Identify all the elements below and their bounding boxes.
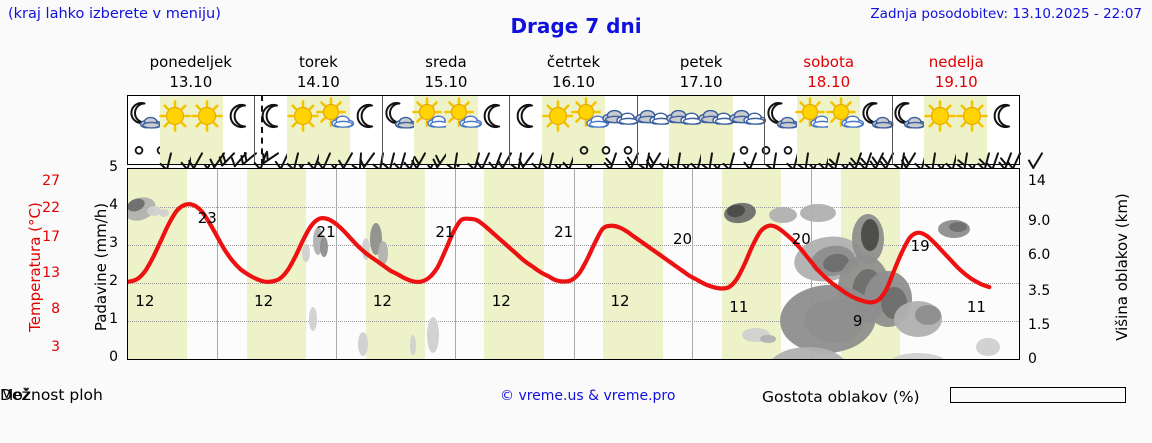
temperature-value-label: 19	[911, 237, 930, 255]
day-headers: ponedeljek13.10torek14.10sreda15.10četrt…	[127, 52, 1020, 94]
cloud-height-tick-1: 9.0	[1028, 213, 1068, 229]
chart-legend: Dež Možnost ploh © vreme.us & vreme.pro …	[0, 386, 1152, 426]
wind-barb-group	[287, 134, 319, 164]
wind-barb-icon	[893, 136, 915, 164]
temperature-tick-1: 22	[36, 200, 60, 216]
day-header-5: sobota18.10	[765, 52, 893, 94]
temperature-value-label: 20	[673, 230, 692, 248]
wind-barb-group	[605, 134, 637, 164]
day-header-6: nedelja19.10	[892, 52, 1020, 94]
wind-barb-group	[160, 134, 192, 164]
wind-barb-group	[350, 134, 382, 164]
x-axis-labels	[127, 361, 1020, 383]
cloud-density-ticks	[950, 405, 1140, 423]
day-date: 19.10	[892, 72, 1020, 92]
icon-day-column-3	[509, 96, 636, 164]
wind-barb-icon	[510, 136, 532, 164]
wind-barb-icon	[605, 136, 627, 164]
day-name: torek	[255, 52, 383, 72]
icon-day-column-6	[892, 96, 1019, 164]
cloud-height-tick-4: 1.5	[1028, 317, 1068, 333]
wind-barb-group	[987, 134, 1019, 164]
day-date: 18.10	[765, 72, 893, 92]
day-name: sobota	[765, 52, 893, 72]
precipitation-tick-3: 2	[100, 273, 118, 289]
wind-barb-icon	[446, 136, 468, 164]
temperature-value-label: 12	[373, 292, 392, 310]
wind-barb-group	[924, 134, 956, 164]
precipitation-tick-4: 1	[100, 311, 118, 327]
cloud-height-axis-title: Višina oblakov (km)	[1113, 182, 1131, 352]
precipitation-tick-0: 5	[100, 159, 118, 175]
showers-legend-label: Možnost ploh	[0, 386, 103, 404]
wind-barb-group	[797, 134, 829, 164]
day-header-2: sreda15.10	[382, 52, 510, 94]
icon-day-column-0	[128, 96, 254, 164]
copyright-link[interactable]: © vreme.us & vreme.pro	[500, 388, 675, 404]
wind-barb-group	[701, 134, 733, 164]
wind-barb-icon	[1031, 136, 1053, 164]
wind-barb-group	[573, 134, 605, 164]
day-header-0: ponedeljek13.10	[127, 52, 255, 94]
day-name: petek	[637, 52, 765, 72]
temperature-tick-3: 13	[36, 265, 60, 281]
day-name: ponedeljek	[127, 52, 255, 72]
wind-barb-group	[383, 134, 415, 164]
temperature-value-label: 9	[853, 312, 863, 330]
temperature-value-label: 11	[967, 298, 986, 316]
temperature-value-label: 23	[198, 209, 217, 227]
temperature-value-label: 12	[135, 292, 154, 310]
icon-day-column-1	[254, 96, 381, 164]
wind-barb-group	[733, 134, 765, 164]
wind-barb-group	[828, 134, 860, 164]
day-date: 14.10	[255, 72, 383, 92]
wind-barb-icon	[987, 136, 1009, 164]
day-name: četrtek	[510, 52, 638, 72]
wind-barb-icon	[287, 136, 309, 164]
temperature-value-label: 12	[611, 292, 630, 310]
wind-barb-group	[765, 134, 797, 164]
wind-barb-icon	[319, 136, 341, 164]
wind-barb-icon	[383, 136, 405, 164]
wind-barb-group	[446, 134, 478, 164]
wind-barb-icon	[128, 136, 150, 164]
wind-barb-icon	[733, 136, 755, 164]
day-name: nedelja	[892, 52, 1020, 72]
icon-day-column-5	[764, 96, 891, 164]
temperature-tick-2: 17	[36, 229, 60, 245]
wind-barb-group	[319, 134, 351, 164]
temperature-curve	[128, 169, 1019, 359]
wind-barb-icon	[255, 136, 277, 164]
wind-barb-group	[191, 134, 223, 164]
temperature-value-label: 12	[492, 292, 511, 310]
wind-barb-icon	[542, 136, 564, 164]
wind-barb-icon	[924, 136, 946, 164]
temperature-value-label: 21	[554, 223, 573, 241]
day-header-4: petek17.10	[637, 52, 765, 94]
wind-barb-group	[478, 134, 510, 164]
day-name: sreda	[382, 52, 510, 72]
cloud-height-tick-2: 6.0	[1028, 247, 1068, 263]
wind-barb-group	[893, 134, 925, 164]
wind-barb-icon	[478, 136, 500, 164]
day-date: 15.10	[382, 72, 510, 92]
wind-barb-icon	[765, 136, 787, 164]
day-header-1: torek14.10	[255, 52, 383, 94]
day-date: 17.10	[637, 72, 765, 92]
cloud-height-tick-5: 0	[1028, 351, 1068, 367]
cloud-height-tick-0: 14	[1028, 173, 1068, 189]
day-date: 13.10	[127, 72, 255, 92]
temperature-value-label: 12	[254, 292, 273, 310]
wind-barb-group	[223, 134, 255, 164]
forecast-plot: 12231221122112211220112091911	[127, 168, 1020, 360]
wind-barb-group	[510, 134, 542, 164]
wind-barb-group	[860, 134, 892, 164]
last-update-label: Zadnja posodobitev: 13.10.2025 - 22:07	[870, 6, 1142, 22]
wind-barb-icon	[669, 136, 691, 164]
icon-day-column-2	[382, 96, 509, 164]
day-date: 16.10	[510, 72, 638, 92]
temperature-value-label: 11	[729, 298, 748, 316]
wind-barb-icon	[638, 136, 660, 164]
temperature-tick-0: 27	[36, 173, 60, 189]
wind-barb-group	[956, 134, 988, 164]
wind-barb-group	[128, 134, 160, 164]
cloud-density-label: Gostota oblakov (%)	[762, 388, 920, 406]
wind-barb-icon	[860, 136, 882, 164]
precipitation-tick-5: 0	[100, 349, 118, 365]
wind-barb-group	[414, 134, 446, 164]
wind-barb-icon	[701, 136, 723, 164]
wind-barb-icon	[797, 136, 819, 164]
temperature-value-label: 21	[317, 223, 336, 241]
icon-day-column-4	[637, 96, 764, 164]
wind-barb-icon	[160, 136, 182, 164]
moon-icon	[987, 98, 1019, 134]
wind-barb-group	[542, 134, 574, 164]
cloud-height-tick-3: 3.5	[1028, 283, 1068, 299]
wind-barb-group	[669, 134, 701, 164]
wind-barb-icon	[956, 136, 978, 164]
current-time-marker-icons	[261, 95, 263, 165]
precipitation-tick-1: 4	[100, 197, 118, 213]
precipitation-tick-2: 3	[100, 235, 118, 251]
wind-barb-group	[638, 134, 670, 164]
temperature-value-label: 20	[792, 230, 811, 248]
forecast-quarter-6-3	[987, 96, 1019, 164]
temperature-value-label: 21	[435, 223, 454, 241]
cloud-density-colorbar	[950, 387, 1126, 403]
wind-barb-icon	[828, 136, 850, 164]
wind-barb-icon	[573, 136, 595, 164]
temperature-tick-4: 8	[36, 301, 60, 317]
day-header-3: četrtek16.10	[510, 52, 638, 94]
temperature-tick-5: 3	[36, 339, 60, 355]
wind-barb-icon	[1009, 136, 1031, 164]
wind-barb-icon	[350, 136, 372, 164]
